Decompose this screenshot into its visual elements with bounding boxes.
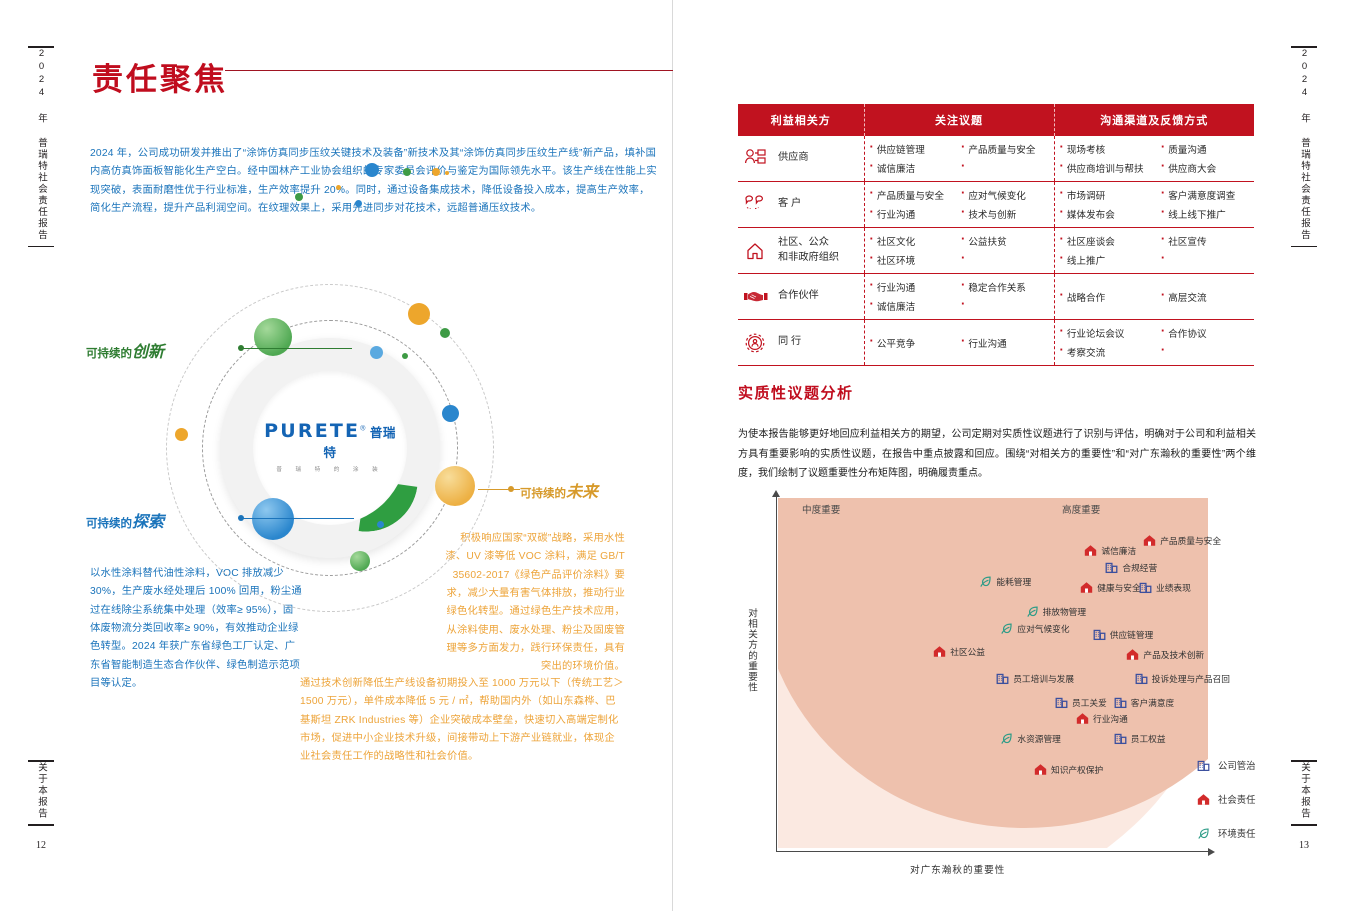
community-house-icon xyxy=(743,239,769,263)
topic-item: 产品质量与安全 xyxy=(961,142,1049,156)
topic-item: 社区文化 xyxy=(870,234,958,248)
channel-item: 合作协议 xyxy=(1161,326,1249,340)
channel-item: 媒体发布会 xyxy=(1060,207,1157,221)
matrix-point-label: 供应链管理 xyxy=(1110,628,1153,641)
cell-topics: 社区文化 公益扶贫 社区环境 xyxy=(864,228,1054,274)
channel-item: 社区座谈会 xyxy=(1060,234,1157,248)
topic-item: 诚信廉洁 xyxy=(870,299,958,313)
table-header-row: 利益相关方 关注议题 沟通渠道及反馈方式 xyxy=(738,104,1254,136)
leader-line-innovation xyxy=(242,348,352,349)
channel-item: 高层交流 xyxy=(1161,290,1249,304)
topic-item: 公平竞争 xyxy=(870,336,958,350)
y-axis-arrow-icon xyxy=(772,490,780,497)
channel-item: 市场调研 xyxy=(1060,188,1157,202)
cell-stakeholder: 客 户 xyxy=(738,182,864,228)
circle-label-future-brush: 未来 xyxy=(566,482,598,501)
bubble-blue-dot-lower xyxy=(377,521,384,528)
matrix-point: 员工培训与发展 xyxy=(996,672,1074,685)
chart-legend: 公司管治 社会责任 环境责任 xyxy=(1197,758,1256,860)
matrix-point-label: 投诉处理与产品召回 xyxy=(1152,672,1230,685)
leaf-icon xyxy=(1000,732,1013,745)
cell-channels: 战略合作 高层交流 xyxy=(1054,274,1254,320)
cell-channels: 现场考核 质量沟通 供应商培训与帮扶 供应商大会 xyxy=(1054,136,1254,182)
edge-tab-right-bottom-label: 关于本报告 xyxy=(1299,762,1309,820)
stakeholder-name: 合作伙伴 xyxy=(778,289,819,304)
paragraph-intro: 2024 年，公司成功研发并推出了“涂饰仿真同步压纹关键技术及装备”新技术及其“… xyxy=(90,145,660,218)
legend-label: 公司管治 xyxy=(1218,758,1256,772)
table-row: 供应商 供应链管理 产品质量与安全 诚信廉洁 现场考核 质量沟通 供应 xyxy=(738,136,1254,182)
matrix-point: 知识产权保护 xyxy=(1034,763,1103,776)
stakeholder-name: 客 户 xyxy=(778,197,801,212)
bubble-blue-dot-scatter xyxy=(365,163,379,177)
matrix-point: 应对气候变化 xyxy=(1000,622,1069,635)
topic-item: 行业沟通 xyxy=(870,280,958,294)
page-title: 责任聚焦 xyxy=(92,54,228,99)
home-icon xyxy=(1084,544,1097,557)
topic-item: 行业沟通 xyxy=(870,207,958,221)
matrix-point-label: 员工培训与发展 xyxy=(1013,672,1074,685)
leader-dot-innovation xyxy=(238,345,244,351)
circle-label-innovation-prefix: 可持续的 xyxy=(86,348,132,360)
matrix-point: 员工权益 xyxy=(1114,732,1166,745)
bubble-orange-large xyxy=(435,466,475,506)
matrix-point-label: 应对气候变化 xyxy=(1017,622,1069,635)
zone-label-moderate: 中度重要 xyxy=(802,502,840,516)
y-axis-title: 对相关方的重要性 xyxy=(744,608,758,693)
matrix-point: 社区公益 xyxy=(933,645,985,658)
bubble-orange-small-left xyxy=(175,428,188,441)
cell-channels: 社区座谈会 社区宣传 线上推广 xyxy=(1054,228,1254,274)
bubble-green-dot-scatter xyxy=(403,168,411,176)
customer-speech-icon xyxy=(743,193,769,217)
matrix-point-label: 排放物管理 xyxy=(1043,605,1086,618)
legend-entry-environment: 环境责任 xyxy=(1197,826,1256,840)
cell-topics: 公平竞争 行业沟通 xyxy=(864,320,1054,366)
matrix-point-label: 能耗管理 xyxy=(996,575,1031,588)
building-icon xyxy=(1139,581,1152,594)
matrix-point-label: 员工权益 xyxy=(1131,732,1166,745)
topic-item: 行业沟通 xyxy=(961,336,1049,350)
channel-item: 现场考核 xyxy=(1060,142,1157,156)
matrix-point-label: 合规经营 xyxy=(1122,561,1157,574)
legend-label: 社会责任 xyxy=(1218,792,1256,806)
channel-item xyxy=(1161,253,1249,267)
topic-item: 诚信廉洁 xyxy=(870,161,958,175)
cell-channels: 行业论坛会议 合作协议 考察交流 xyxy=(1054,320,1254,366)
zone-label-high: 高度重要 xyxy=(1062,502,1100,516)
bubble-blue-small-upper xyxy=(370,346,383,359)
channel-item: 供应商大会 xyxy=(1161,161,1249,175)
logo-tagline: 普 瑞 特 的 涂 装 xyxy=(258,465,402,473)
edge-rule xyxy=(1291,246,1317,248)
matrix-point-label: 社区公益 xyxy=(950,645,985,658)
bubble-orange-dot-scatter-3 xyxy=(445,171,449,175)
matrix-point-label: 行业沟通 xyxy=(1093,712,1128,725)
logo-wordmark: PURETE xyxy=(264,420,360,442)
materiality-matrix-chart: 中度重要 高度重要 对相关方的重要性 对广东瀚秋的重要性 能耗管理排放物管理应对… xyxy=(742,490,1252,880)
channel-item: 社区宣传 xyxy=(1161,234,1249,248)
channel-item: 线上线下推广 xyxy=(1161,207,1249,221)
column-header-stakeholder: 利益相关方 xyxy=(738,104,864,136)
topic-item xyxy=(961,253,1049,267)
stakeholder-table: 利益相关方 关注议题 沟通渠道及反馈方式 xyxy=(738,104,1254,366)
brand-circle-graphic: PURETE® 普瑞特 普 瑞 特 的 涂 装 xyxy=(140,298,580,598)
legend-entry-governance: 公司管治 xyxy=(1197,758,1256,772)
cell-channels: 市场调研 客户满意度调查 媒体发布会 线上线下推广 xyxy=(1054,182,1254,228)
matrix-point-label: 健康与安全 xyxy=(1097,581,1140,594)
edge-rule xyxy=(28,246,54,248)
cell-stakeholder: 社区、公众 和非政府组织 xyxy=(738,228,864,274)
bubble-orange-dot-scatter xyxy=(432,168,440,176)
legend-label: 环境责任 xyxy=(1218,826,1256,840)
edge-tab-left-top-label: 2024 年 普瑞特社会责任报告 xyxy=(36,48,46,241)
topic-item: 稳定合作关系 xyxy=(961,280,1049,294)
matrix-point: 能耗管理 xyxy=(979,575,1031,588)
matrix-point-label: 员工关爱 xyxy=(1072,696,1107,709)
building-icon xyxy=(1114,696,1127,709)
circle-label-exploration: 可持续的探索 xyxy=(86,508,164,532)
circle-label-exploration-prefix: 可持续的 xyxy=(86,518,132,530)
stakeholder-name: 社区、公众 和非政府组织 xyxy=(778,236,839,266)
cell-topics: 行业沟通 稳定合作关系 诚信廉洁 xyxy=(864,274,1054,320)
cell-topics: 供应链管理 产品质量与安全 诚信廉洁 xyxy=(864,136,1054,182)
matrix-point: 业绩表现 xyxy=(1139,581,1191,594)
stakeholder-name: 同 行 xyxy=(778,335,801,350)
table-row: 客 户 产品质量与安全 应对气候变化 行业沟通 技术与创新 市场调研 客户满意度… xyxy=(738,182,1254,228)
circle-label-innovation-brush: 创新 xyxy=(132,342,164,361)
building-icon xyxy=(1135,672,1148,685)
column-header-channels: 沟通渠道及反馈方式 xyxy=(1054,104,1254,136)
building-icon xyxy=(1105,561,1118,574)
table-row: 社区、公众 和非政府组织 社区文化 公益扶贫 社区环境 社区座谈会 社区宣传 xyxy=(738,228,1254,274)
edge-tab-left-top: 2024 年 普瑞特社会责任报告 xyxy=(28,46,54,247)
channel-item: 线上推广 xyxy=(1060,253,1157,267)
bubble-orange-dot-scatter-2 xyxy=(336,185,341,190)
bubble-green-lower xyxy=(350,551,370,571)
building-icon xyxy=(1114,732,1127,745)
home-icon xyxy=(1197,793,1210,806)
report-spread: 2024 年 普瑞特社会责任报告 关于本报告 12 2024 年 普瑞特社会责任… xyxy=(0,0,1345,911)
channel-item: 客户满意度调查 xyxy=(1161,188,1249,202)
bubble-green-dot-upper xyxy=(402,353,408,359)
topic-item: 社区环境 xyxy=(870,253,958,267)
column-header-topics: 关注议题 xyxy=(864,104,1054,136)
topic-item xyxy=(961,299,1049,313)
cell-stakeholder: 同 行 xyxy=(738,320,864,366)
matrix-point: 合规经营 xyxy=(1105,561,1157,574)
matrix-point-label: 水资源管理 xyxy=(1017,732,1060,745)
page-number-right: 13 xyxy=(1291,840,1317,851)
topic-item: 供应链管理 xyxy=(870,142,958,156)
home-icon xyxy=(1143,534,1156,547)
x-axis-title: 对广东瀚秋的重要性 xyxy=(910,862,1005,876)
edge-tab-right-bottom: 关于本报告 13 xyxy=(1291,760,1317,851)
bubble-green-dot-scatter-2 xyxy=(295,193,303,201)
topic-item: 应对气候变化 xyxy=(961,188,1049,202)
circle-label-future-prefix: 可持续的 xyxy=(520,488,566,500)
leaf-icon xyxy=(1026,605,1039,618)
cell-stakeholder: 供应商 xyxy=(738,136,864,182)
handshake-icon xyxy=(743,285,769,309)
home-icon xyxy=(933,645,946,658)
leader-dot-exploration xyxy=(238,515,244,521)
stakeholder-name: 供应商 xyxy=(778,151,809,166)
y-axis-line xyxy=(776,496,777,852)
home-icon xyxy=(1126,648,1139,661)
matrix-point-label: 知识产权保护 xyxy=(1051,763,1103,776)
channel-item: 行业论坛会议 xyxy=(1060,326,1157,340)
matrix-point: 产品及技术创新 xyxy=(1126,648,1204,661)
leader-line-exploration xyxy=(242,518,354,519)
matrix-point: 员工关爱 xyxy=(1055,696,1107,709)
channel-item: 质量沟通 xyxy=(1161,142,1249,156)
gear-people-icon xyxy=(743,331,769,355)
title-underline xyxy=(225,70,673,71)
topic-item xyxy=(961,161,1049,175)
legend-entry-social: 社会责任 xyxy=(1197,792,1256,806)
matrix-point: 客户满意度 xyxy=(1114,696,1174,709)
supplier-network-icon xyxy=(743,147,769,171)
edge-tab-right-top: 2024 年 普瑞特社会责任报告 xyxy=(1291,46,1317,247)
table-row: 同 行 公平竞争 行业沟通 行业论坛会议 合作协议 考察交流 xyxy=(738,320,1254,366)
page-gutter-divider xyxy=(672,0,673,911)
cell-stakeholder: 合作伙伴 xyxy=(738,274,864,320)
edge-rule xyxy=(1291,824,1317,826)
table-row: 合作伙伴 行业沟通 稳定合作关系 诚信廉洁 战略合作 高层交流 xyxy=(738,274,1254,320)
matrix-point-label: 产品质量与安全 xyxy=(1160,534,1221,547)
matrix-point-label: 客户满意度 xyxy=(1131,696,1174,709)
topic-item: 产品质量与安全 xyxy=(870,188,958,202)
circle-label-exploration-brush: 探索 xyxy=(132,512,164,531)
logo-registered-icon: ® xyxy=(360,426,365,433)
bubble-blue-mid-right xyxy=(442,405,459,422)
bubble-blue-dot-scatter-2 xyxy=(355,200,362,207)
bubble-green-dot-top xyxy=(440,328,450,338)
section-heading-materiality: 实质性议题分析 xyxy=(738,382,854,403)
bubble-green-large xyxy=(254,318,292,356)
x-axis-line xyxy=(776,851,1210,852)
materiality-paragraph: 为使本报告能够更好地回应利益相关方的期望，公司定期对实质性议题进行了识别与评估，… xyxy=(738,425,1256,484)
channel-item: 供应商培训与帮扶 xyxy=(1060,161,1157,175)
channel-item: 考察交流 xyxy=(1060,345,1157,359)
home-icon xyxy=(1080,581,1093,594)
edge-tab-right-top-label: 2024 年 普瑞特社会责任报告 xyxy=(1299,48,1309,241)
matrix-point-label: 业绩表现 xyxy=(1156,581,1191,594)
leaf-icon xyxy=(1197,827,1210,840)
circle-label-future: 可持续的未来 xyxy=(520,478,598,502)
matrix-point: 供应链管理 xyxy=(1093,628,1153,641)
building-icon xyxy=(1093,628,1106,641)
matrix-point: 投诉处理与产品召回 xyxy=(1135,672,1230,685)
page-number-left: 12 xyxy=(28,840,54,851)
matrix-point: 产品质量与安全 xyxy=(1143,534,1221,547)
matrix-point: 水资源管理 xyxy=(1000,732,1060,745)
matrix-point: 健康与安全 xyxy=(1080,581,1140,594)
building-icon xyxy=(1055,696,1068,709)
bubble-orange-top xyxy=(408,303,430,325)
home-icon xyxy=(1034,763,1047,776)
matrix-point-label: 诚信廉洁 xyxy=(1101,544,1136,557)
matrix-point-label: 产品及技术创新 xyxy=(1143,648,1204,661)
topic-item: 技术与创新 xyxy=(961,207,1049,221)
channel-item: 战略合作 xyxy=(1060,290,1157,304)
edge-tab-left-bottom-label: 关于本报告 xyxy=(36,762,46,820)
matrix-point: 行业沟通 xyxy=(1076,712,1128,725)
purete-logo: PURETE® 普瑞特 普 瑞 特 的 涂 装 xyxy=(258,420,402,473)
topic-item: 公益扶贫 xyxy=(961,234,1049,248)
edge-tab-left-bottom: 关于本报告 12 xyxy=(28,760,54,851)
paragraph-cost-innovation: 通过技术创新降低生产线设备初期投入至 1000 万元以下（传统工艺＞ 1500 … xyxy=(300,675,625,767)
leaf-icon xyxy=(979,575,992,588)
building-icon xyxy=(1197,759,1210,772)
cell-topics: 产品质量与安全 应对气候变化 行业沟通 技术与创新 xyxy=(864,182,1054,228)
circle-label-innovation: 可持续的创新 xyxy=(86,338,164,362)
home-icon xyxy=(1076,712,1089,725)
edge-rule xyxy=(28,824,54,826)
matrix-point: 排放物管理 xyxy=(1026,605,1086,618)
leader-dot-future xyxy=(508,486,514,492)
building-icon xyxy=(996,672,1009,685)
matrix-point: 诚信廉洁 xyxy=(1084,544,1136,557)
leaf-icon xyxy=(1000,622,1013,635)
channel-item xyxy=(1161,345,1249,359)
